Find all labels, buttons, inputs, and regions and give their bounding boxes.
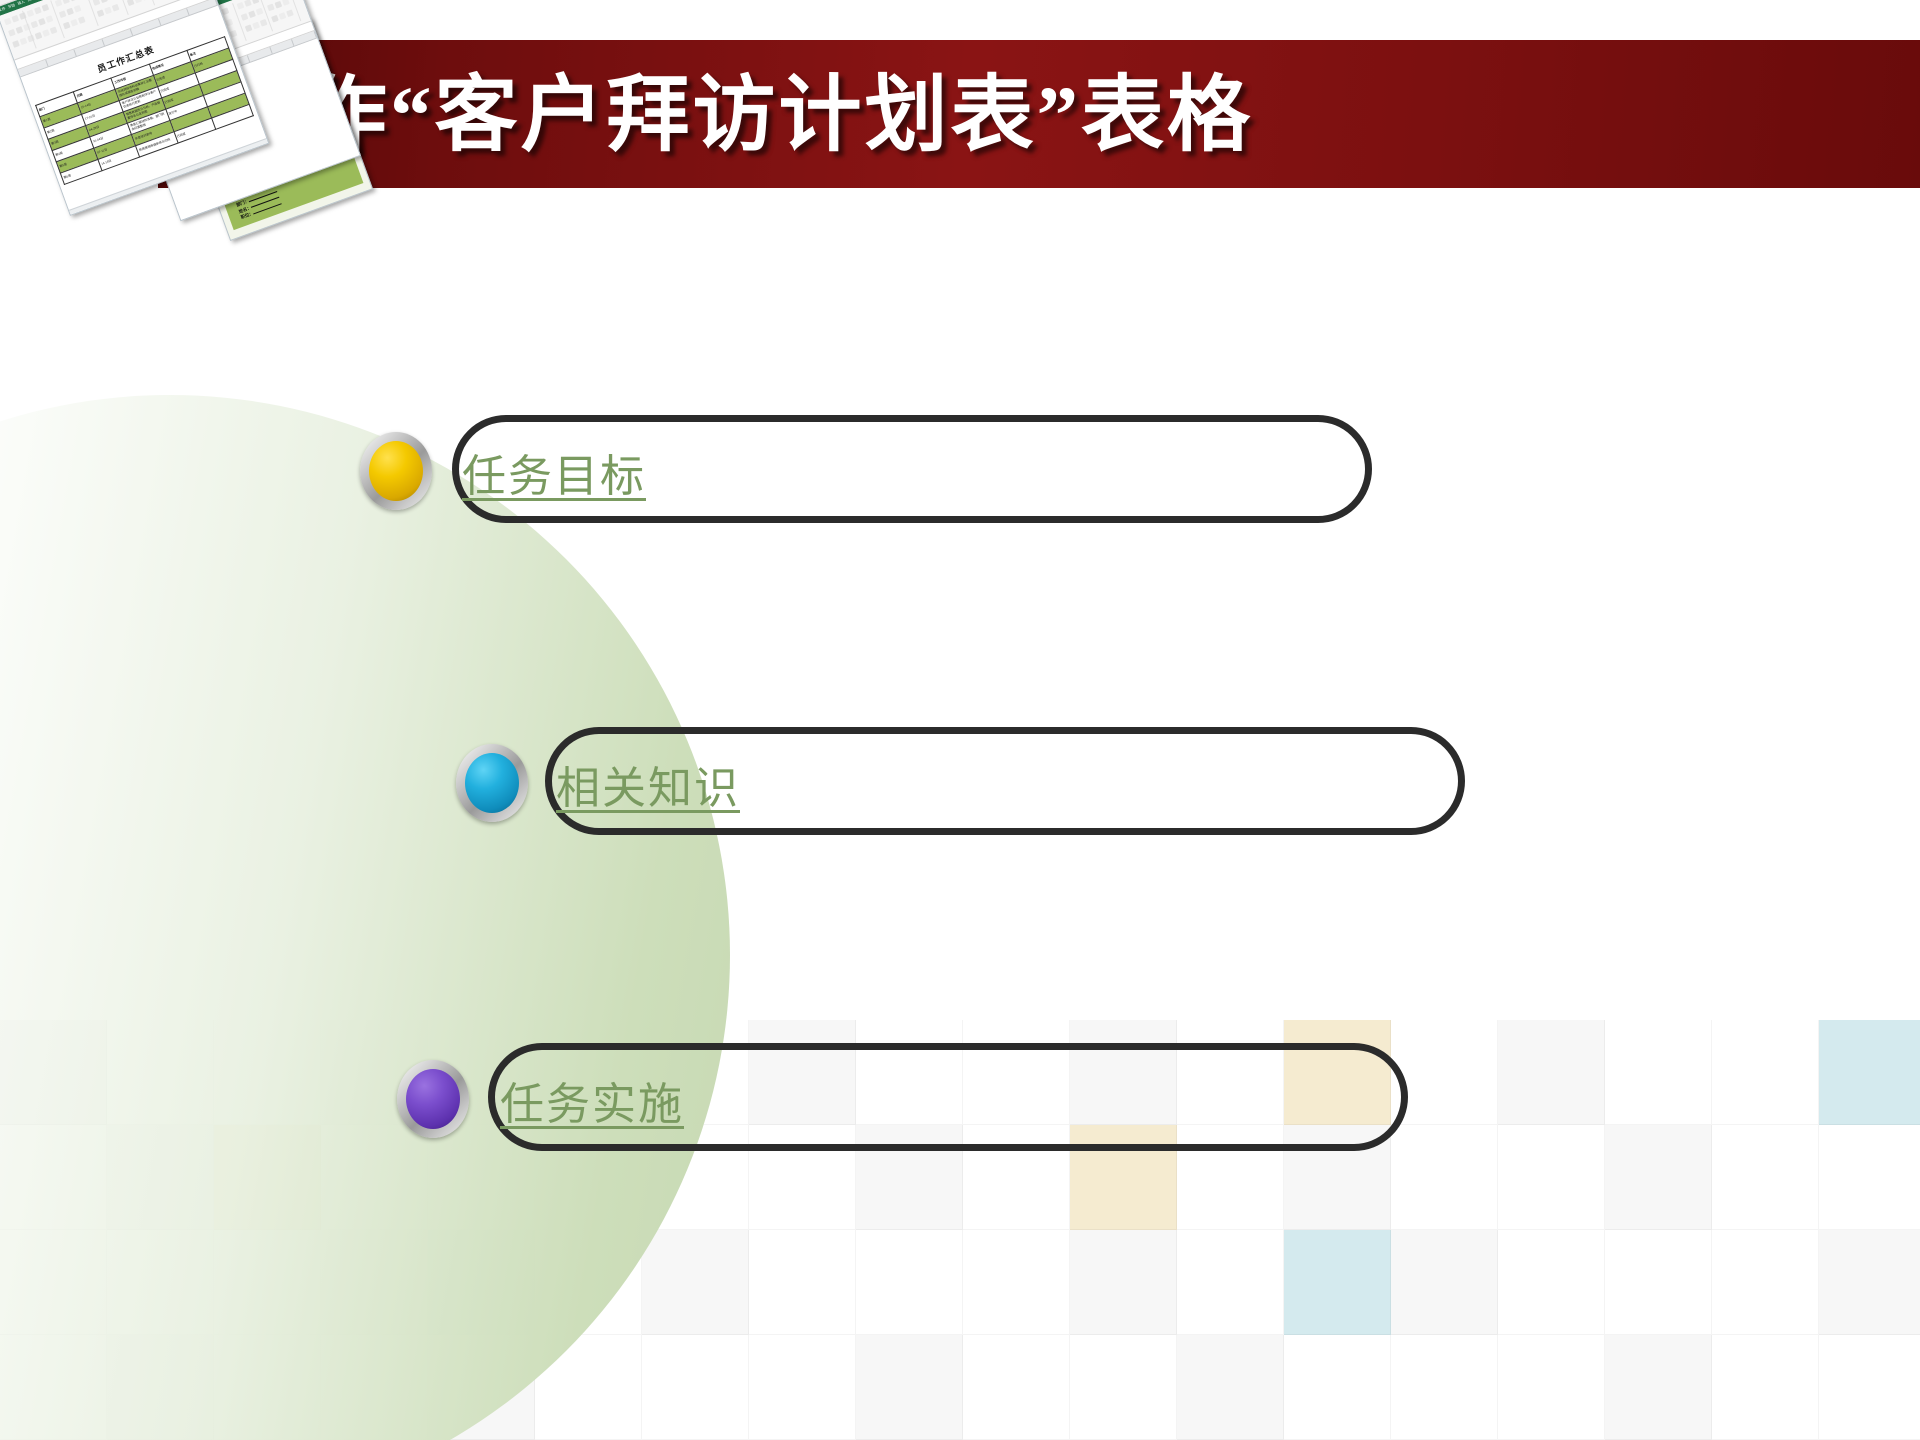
- slide-title: 制作“客户拜访计划表”表格: [218, 52, 1718, 178]
- item-label-task-objective[interactable]: 任务目标: [462, 440, 646, 504]
- purple-orb-bullet[interactable]: [397, 1060, 469, 1138]
- blue-orb-bullet[interactable]: [456, 744, 528, 822]
- excel-screenshot-collage: 证 部门： 姓名： 职位： 工作汇总表 - Microsoft Excel 文件…: [0, 0, 330, 250]
- gold-orb-bullet[interactable]: [360, 432, 432, 510]
- blue-orb-inner: [465, 753, 519, 813]
- item-label-related-knowledge[interactable]: 相关知识: [556, 752, 740, 816]
- purple-orb-inner: [406, 1069, 460, 1129]
- presentation-slide: 制作“客户拜访计划表”表格 证 部门： 姓名： 职位： 工作汇总表 - Micr…: [0, 0, 1920, 1440]
- item-label-task-implementation[interactable]: 任务实施: [500, 1068, 684, 1132]
- gold-orb-inner: [369, 441, 423, 501]
